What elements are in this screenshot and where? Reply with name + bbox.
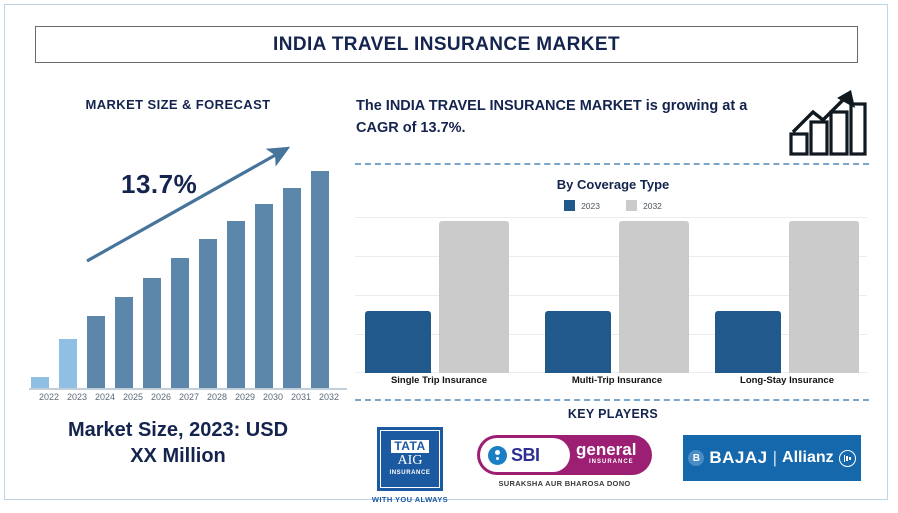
legend-item-2032: 2032 xyxy=(626,200,662,211)
bar-2024 xyxy=(87,316,105,388)
divider-bottom xyxy=(355,399,869,401)
year-label: 2029 xyxy=(230,392,260,402)
market-size-caption-line1: Market Size, 2023: USD xyxy=(17,417,339,443)
key-players-title: KEY PLAYERS xyxy=(349,407,877,421)
logo-sbi-general[interactable]: SBI general INSURANCE SURAKSHA AUR BHARO… xyxy=(477,435,657,505)
legend-swatch-2023 xyxy=(564,200,575,211)
divider-top xyxy=(355,163,869,165)
bar-2031 xyxy=(283,188,301,388)
market-size-bars xyxy=(31,171,345,388)
bar-2022 xyxy=(31,377,49,388)
page-title: INDIA TRAVEL INSURANCE MARKET xyxy=(273,34,620,56)
market-size-heading: MARKET SIZE & FORECAST xyxy=(11,97,345,112)
coverage-bar-2032 xyxy=(789,221,859,373)
key-players-logos: TATA AIG INSURANCE WITH YOU ALWAYS SBI g… xyxy=(355,427,871,513)
bar-2023 xyxy=(59,339,77,388)
coverage-bar-2032 xyxy=(439,221,509,373)
cagr-statement: The INDIA TRAVEL INSURANCE MARKET is gro… xyxy=(356,95,776,139)
bar-2027 xyxy=(171,258,189,388)
coverage-label-single-trip: Single Trip Insurance xyxy=(359,375,519,386)
bajaj-brand: BAJAJ xyxy=(709,448,767,468)
bar-2032 xyxy=(311,171,329,388)
year-label: 2023 xyxy=(62,392,92,402)
year-label: 2025 xyxy=(118,392,148,402)
coverage-group-long-stay xyxy=(715,217,867,373)
market-size-caption-line2: XX Million xyxy=(17,443,339,469)
coverage-bar-2023 xyxy=(365,311,431,373)
year-label: 2024 xyxy=(90,392,120,402)
bar-2030 xyxy=(255,204,273,388)
coverage-bar-2032 xyxy=(619,221,689,373)
right-panel: The INDIA TRAVEL INSURANCE MARKET is gro… xyxy=(349,81,889,501)
coverage-label-multi-trip: Multi-Trip Insurance xyxy=(537,375,697,386)
year-label: 2026 xyxy=(146,392,176,402)
bar-2029 xyxy=(227,221,245,388)
bajaj-b-icon: B xyxy=(688,450,704,466)
year-label: 2028 xyxy=(202,392,232,402)
legend-label-2023: 2023 xyxy=(581,201,600,211)
legend-swatch-2032 xyxy=(626,200,637,211)
sbi-general-mark: SBI general INSURANCE xyxy=(477,435,652,475)
bar-chart-growth-icon xyxy=(787,86,871,156)
legend-label-2032: 2032 xyxy=(643,201,662,211)
sbi-general-sub: INSURANCE xyxy=(589,459,634,465)
sbi-keyhole-icon xyxy=(488,446,507,465)
tata-aig-mark: TATA AIG INSURANCE xyxy=(377,427,443,491)
bajaj-partner: Allianz xyxy=(782,449,834,467)
coverage-legend: 2023 2032 xyxy=(349,200,877,211)
chart-baseline xyxy=(29,388,347,390)
market-size-panel: MARKET SIZE & FORECAST 13.7% xyxy=(11,81,345,501)
year-label: 2027 xyxy=(174,392,204,402)
tata-aig-line2: AIG xyxy=(398,453,423,469)
sbi-general-tagline: SURAKSHA AUR BHAROSA DONO xyxy=(477,479,652,488)
year-label: 2031 xyxy=(286,392,316,402)
tata-aig-tagline: WITH YOU ALWAYS xyxy=(365,495,455,504)
logo-bajaj-allianz[interactable]: B BAJAJ | Allianz xyxy=(683,435,861,481)
year-label: 2032 xyxy=(314,392,344,402)
coverage-bar-2023 xyxy=(715,311,781,373)
allianz-mark-icon xyxy=(839,450,856,467)
sbi-brand: SBI xyxy=(511,445,540,466)
legend-item-2023: 2023 xyxy=(564,200,600,211)
coverage-group-multi-trip xyxy=(541,217,693,373)
coverage-chart-title: By Coverage Type xyxy=(349,177,877,192)
year-label: 2030 xyxy=(258,392,288,402)
coverage-label-long-stay: Long-Stay Insurance xyxy=(707,375,867,386)
bajaj-separator: | xyxy=(773,448,777,468)
coverage-category-labels: Single Trip Insurance Multi-Trip Insuran… xyxy=(355,375,867,391)
coverage-group-single-trip xyxy=(361,217,513,373)
bar-2025 xyxy=(115,297,133,388)
infographic-frame: INDIA TRAVEL INSURANCE MARKET MARKET SIZ… xyxy=(4,4,888,500)
year-label: 2022 xyxy=(34,392,64,402)
title-box: INDIA TRAVEL INSURANCE MARKET xyxy=(35,26,858,63)
bar-2026 xyxy=(143,278,161,388)
market-size-caption: Market Size, 2023: USD XX Million xyxy=(17,417,339,469)
coverage-chart-plot xyxy=(355,217,867,373)
bar-2028 xyxy=(199,239,217,388)
sbi-general-word: general xyxy=(576,440,650,459)
logo-tata-aig[interactable]: TATA AIG INSURANCE WITH YOU ALWAYS xyxy=(365,427,455,511)
coverage-bar-2023 xyxy=(545,311,611,373)
market-size-year-labels: 2022 2023 2024 2025 2026 2027 2028 2029 … xyxy=(27,392,345,408)
tata-aig-line3: INSURANCE xyxy=(389,469,430,478)
tata-aig-line1: TATA xyxy=(391,440,428,453)
